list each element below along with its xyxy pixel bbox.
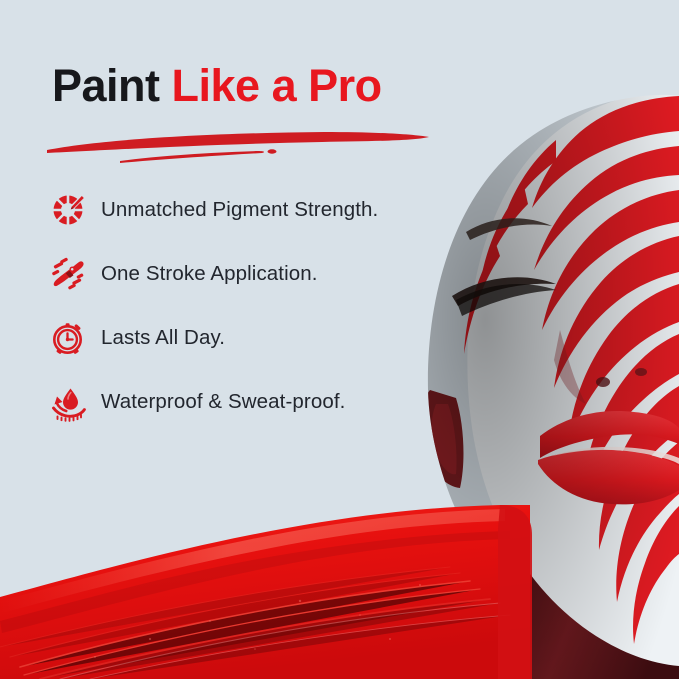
list-item: Lasts All Day.: [46, 306, 466, 370]
waterproof-droplet-icon: [46, 380, 90, 424]
model-lips: [538, 411, 679, 504]
headline-accent-part: Like a Pro: [172, 60, 382, 111]
red-brush-underline: [44, 128, 436, 168]
list-item: Waterproof & Sweat-proof.: [46, 370, 466, 434]
brush-stroke-motion-icon: [46, 252, 90, 296]
model-eye: [452, 218, 556, 316]
headline-dark-part: Paint: [52, 60, 172, 111]
list-item: Unmatched Pigment Strength.: [46, 178, 466, 242]
feature-label: Lasts All Day.: [101, 326, 225, 350]
stopwatch-icon: [46, 316, 90, 360]
face-paint-stripes: [464, 96, 679, 644]
page-title: Paint Like a Pro: [52, 63, 382, 108]
red-paint-smear: [0, 489, 679, 679]
feature-label: Waterproof & Sweat-proof.: [101, 390, 345, 414]
paint-palette-brush-icon: [46, 188, 90, 232]
feature-list: Unmatched Pigment Strength.: [46, 178, 466, 434]
poster-canvas: Paint Like a Pro: [0, 0, 679, 679]
model-neck: [516, 560, 679, 679]
feature-label: Unmatched Pigment Strength.: [101, 198, 378, 222]
feature-label: One Stroke Application.: [101, 262, 318, 286]
list-item: One Stroke Application.: [46, 242, 466, 306]
